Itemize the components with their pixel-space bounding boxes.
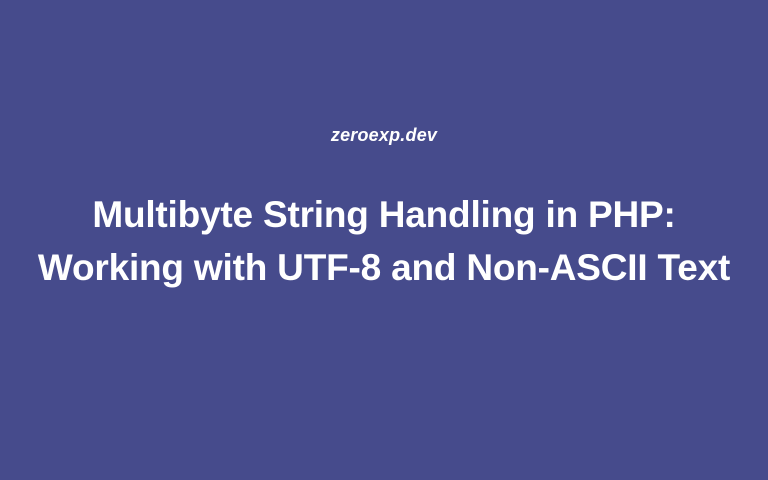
page-title-line-2: Working with UTF-8 and Non-ASCII Text (24, 241, 744, 294)
page-title: Multibyte String Handling in PHP: Workin… (0, 188, 768, 294)
blog-cover-card: zeroexp.dev Multibyte String Handling in… (0, 0, 768, 480)
page-title-line-1: Multibyte String Handling in PHP: (24, 188, 744, 241)
site-brand-label: zeroexp.dev (0, 126, 768, 144)
